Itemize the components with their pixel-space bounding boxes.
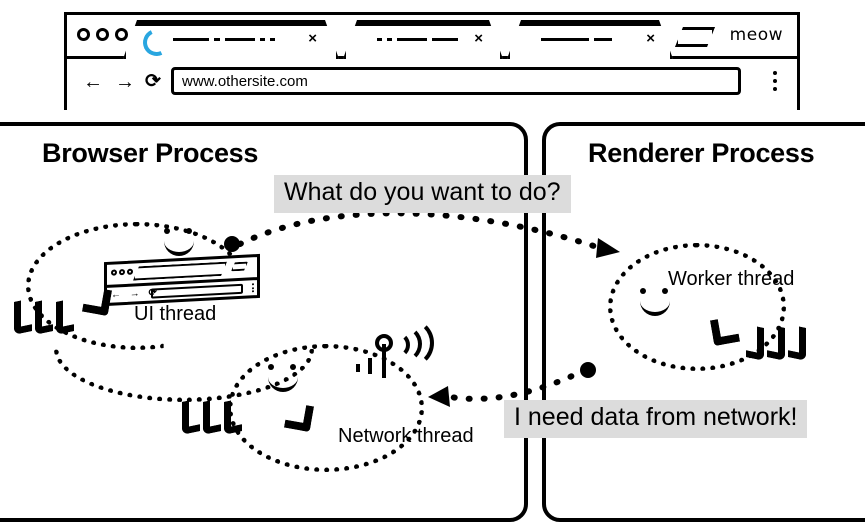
message-origin-dot-worker — [580, 362, 596, 378]
arrowhead-to-network — [428, 386, 450, 407]
arrowhead-to-worker — [596, 238, 620, 258]
connector-worker-to-network — [445, 370, 585, 399]
message-bubble-need-data: I need data from network! — [504, 400, 807, 438]
connector-ui-to-worker — [240, 213, 600, 248]
message-bubble-what-do-you-want: What do you want to do? — [274, 175, 571, 213]
message-origin-dot-ui — [224, 236, 240, 252]
